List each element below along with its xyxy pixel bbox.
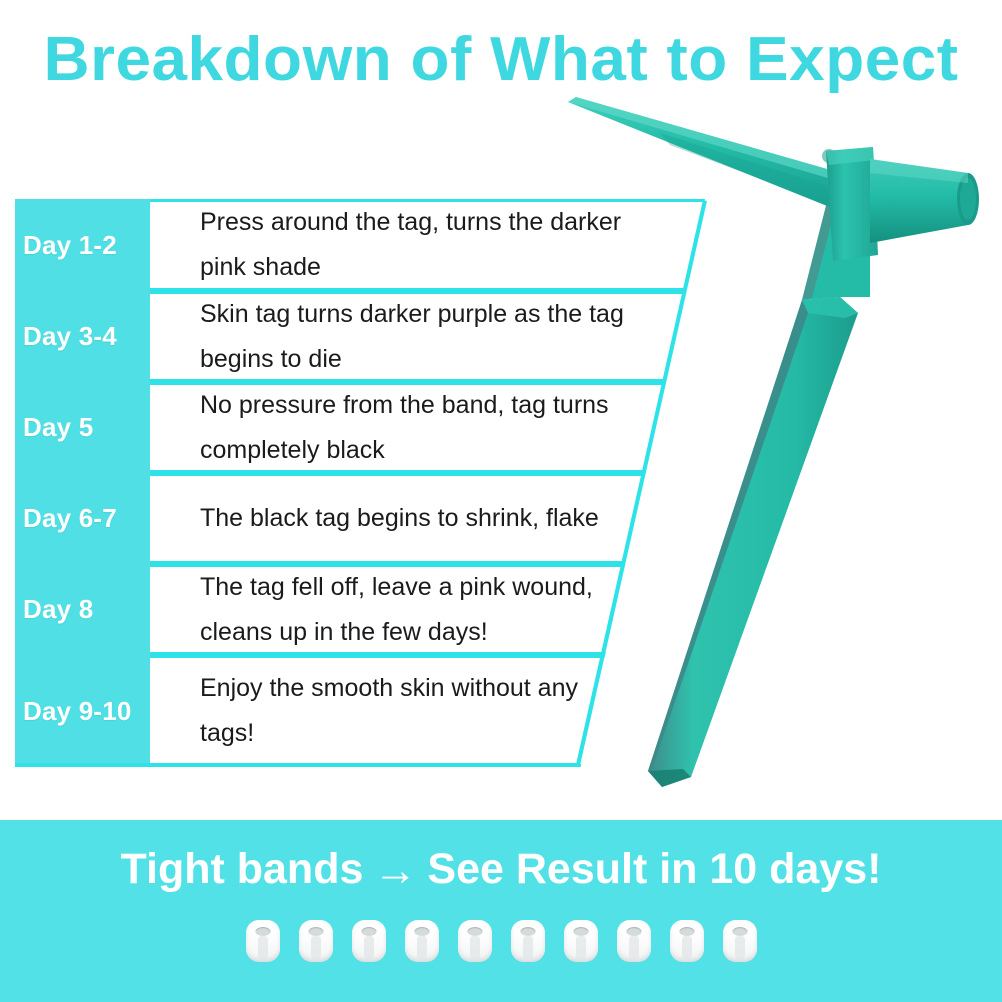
band-stem [417,936,427,960]
band-hole-icon [520,927,535,936]
band-hole-icon [361,927,376,936]
band-item [299,920,333,962]
description-cell: The tag fell off, leave a pink wound, cl… [150,564,626,655]
day-label: Day 5 [23,412,93,443]
description-line: Enjoy the smooth skin without any [200,666,605,711]
day-label: Day 9-10 [23,696,132,727]
band-item [405,920,439,962]
band-hole-icon [732,927,747,936]
description-line: begins to die [200,337,687,382]
description-line: completely black [200,428,666,473]
band-stem [258,936,268,960]
band-stem [523,936,533,960]
banner-headline: Tight bands→See Result in 10 days! [0,840,1002,900]
description-line: Press around the tag, turns the darker [200,200,707,245]
band-hole-icon [255,927,270,936]
description-cell: Skin tag turns darker purple as the tag … [150,291,687,382]
description-cell: No pressure from the band, tag turns com… [150,382,666,473]
band-item [670,920,704,962]
band-hole-icon [308,927,323,936]
band-stem [470,936,480,960]
description-line: Skin tag turns darker purple as the tag [200,292,687,337]
band-row [0,920,1002,962]
description-cell: The black tag begins to shrink, flake [150,473,646,564]
band-stem [682,936,692,960]
description-line: tags! [200,711,605,756]
arrow-right-icon: → [363,842,427,900]
band-item [723,920,757,962]
cylindrical-end-cap [870,159,979,243]
band-item [511,920,545,962]
banner-text-before: Tight bands [121,845,364,893]
band-hole-icon [414,927,429,936]
day-label-cell: Day 5 [15,382,167,473]
description-line: The tag fell off, leave a pink wound, [200,565,626,610]
band-item [458,920,492,962]
band-stem [311,936,321,960]
day-column: Day 1-2 Day 3-4 Day 5 Day 6-7 Day 8 Day … [15,199,167,767]
description-line: cleans up in the few days! [200,610,626,655]
band-hole-icon [573,927,588,936]
description-line: The black tag begins to shrink, flake [200,496,646,541]
band-item [352,920,386,962]
day-label: Day 6-7 [23,503,117,534]
description-line: No pressure from the band, tag turns [200,383,666,428]
band-stem [735,936,745,960]
band-stem [364,936,374,960]
band-hole-icon [679,927,694,936]
day-label-cell: Day 9-10 [15,655,167,767]
flange-collar [822,147,878,261]
description-line: pink shade [200,245,707,290]
band-hole-icon [626,927,641,936]
day-label: Day 3-4 [23,321,117,352]
band-item [617,920,651,962]
banner-text-after: See Result in 10 days! [427,845,881,893]
day-label: Day 8 [23,594,93,625]
band-item [246,920,280,962]
day-label-cell: Day 1-2 [15,199,167,291]
day-label-cell: Day 6-7 [15,473,167,564]
band-hole-icon [467,927,482,936]
day-label-cell: Day 3-4 [15,291,167,382]
bottom-banner: Tight bands→See Result in 10 days! [0,820,1002,1002]
description-cell: Press around the tag, turns the darker p… [150,199,707,291]
flange-strut [802,190,870,300]
band-stem [629,936,639,960]
description-cell: Enjoy the smooth skin without any tags! [150,655,605,767]
band-stem [576,936,586,960]
page-title: Breakdown of What to Expect [0,24,1002,96]
day-label-cell: Day 8 [15,564,167,655]
expectation-timeline-table: Day 1-2 Day 3-4 Day 5 Day 6-7 Day 8 Day … [15,199,710,767]
day-label: Day 1-2 [23,230,117,261]
band-item [564,920,598,962]
